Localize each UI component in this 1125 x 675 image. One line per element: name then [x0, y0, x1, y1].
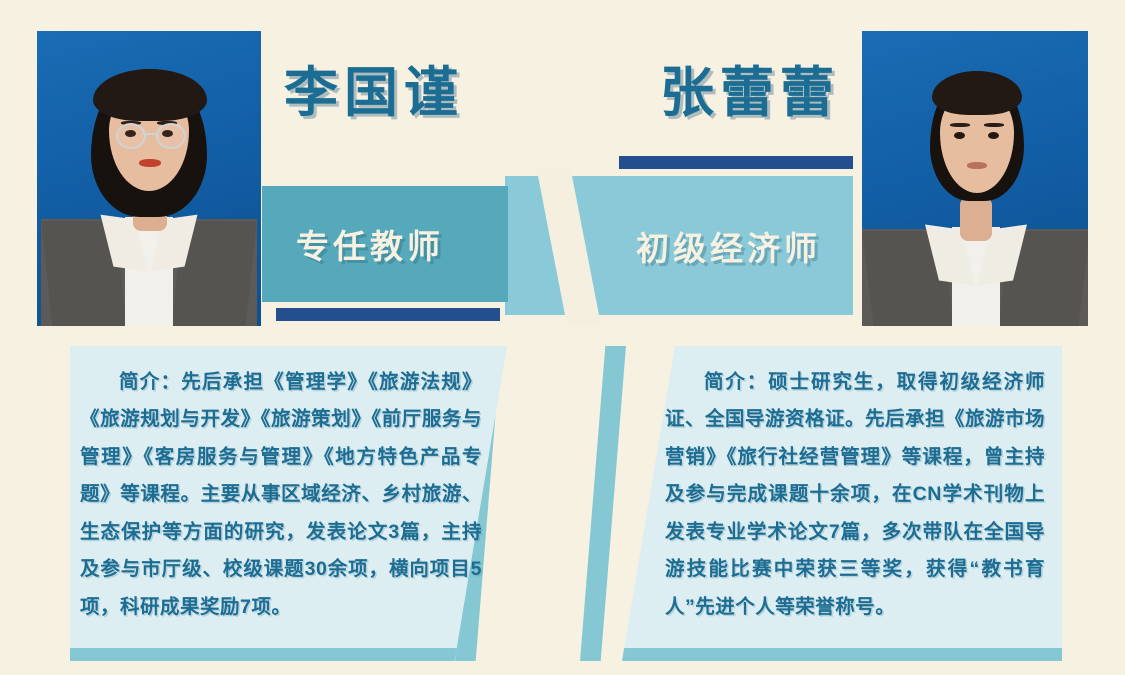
- diagonal-accent-right: [580, 346, 626, 661]
- name-underline-right: [619, 156, 853, 169]
- margin-left: [0, 0, 37, 675]
- mid-gap: [37, 326, 1088, 346]
- role-label-right: 初级经济师: [636, 222, 821, 270]
- poster-canvas: 初级经济师 专任教师 李国谨 张蕾蕾 简介：先后承担《管理学》《旅游法规》《旅游…: [0, 0, 1125, 675]
- bio-panel-left-bar: [70, 648, 507, 661]
- role-label-left: 专任教师: [296, 220, 444, 268]
- name-left: 李国谨: [284, 66, 464, 120]
- portrait-figure-right: [862, 31, 1088, 326]
- bio-panel-right-bar: [622, 648, 1062, 661]
- bio-text-right: 简介：硕士研究生，取得初级经济师证、全国导游资格证。先后承担《旅游市场营销》《旅…: [665, 364, 1045, 626]
- role-band-left: 专任教师: [262, 186, 508, 302]
- portrait-photo-left: [37, 31, 261, 326]
- margin-right: [1088, 0, 1125, 675]
- portrait-photo-right: [862, 31, 1088, 326]
- name-right: 张蕾蕾: [660, 66, 840, 120]
- portrait-figure-left: [37, 31, 261, 326]
- margin-top: [0, 0, 1125, 31]
- bio-text-left: 简介：先后承担《管理学》《旅游法规》《旅游规划与开发》《旅游策划》《前厅服务与管…: [80, 364, 482, 626]
- name-underline-left: [276, 308, 500, 321]
- margin-bottom: [0, 661, 1125, 675]
